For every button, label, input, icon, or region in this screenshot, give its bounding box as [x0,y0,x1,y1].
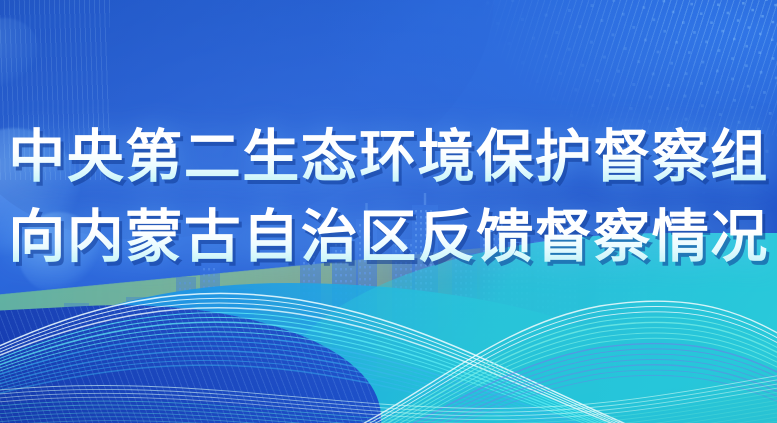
banner-title: 中央第二生态环境保护督察组 向内蒙古自治区反馈督察情况 [0,118,777,278]
title-line-1: 中央第二生态环境保护督察组 [0,118,777,198]
title-line-2: 向内蒙古自治区反馈督察情况 [0,198,777,278]
banner-canvas: 中央第二生态环境保护督察组 向内蒙古自治区反馈督察情况 [0,0,777,423]
